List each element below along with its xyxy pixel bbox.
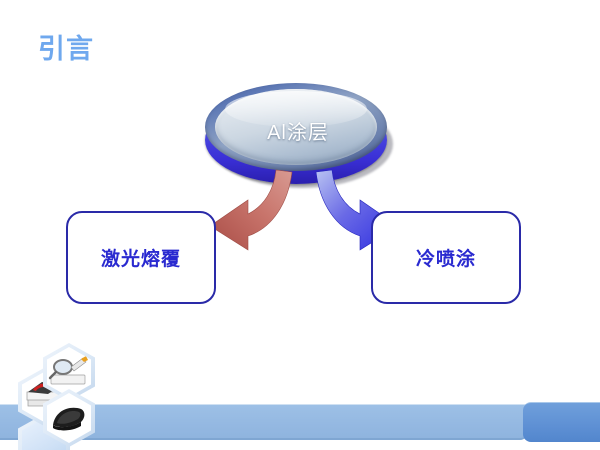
branch-box-cold-spray[interactable]: 冷喷涂 [371, 211, 521, 304]
branch-label-right: 冷喷涂 [416, 244, 476, 271]
page-title: 引言 [38, 36, 94, 63]
hexagon-dark-object-inner [47, 393, 91, 443]
branch-box-laser-cladding[interactable]: 激光熔覆 [66, 211, 216, 304]
footer-bar-dark-segment [523, 402, 600, 442]
slide-canvas: 引言 Al涂层 激光熔覆 [0, 0, 600, 450]
center-node-label: Al涂层 [203, 80, 393, 180]
dark-object-icon [47, 393, 91, 443]
branch-label-left: 激光熔覆 [101, 244, 181, 271]
